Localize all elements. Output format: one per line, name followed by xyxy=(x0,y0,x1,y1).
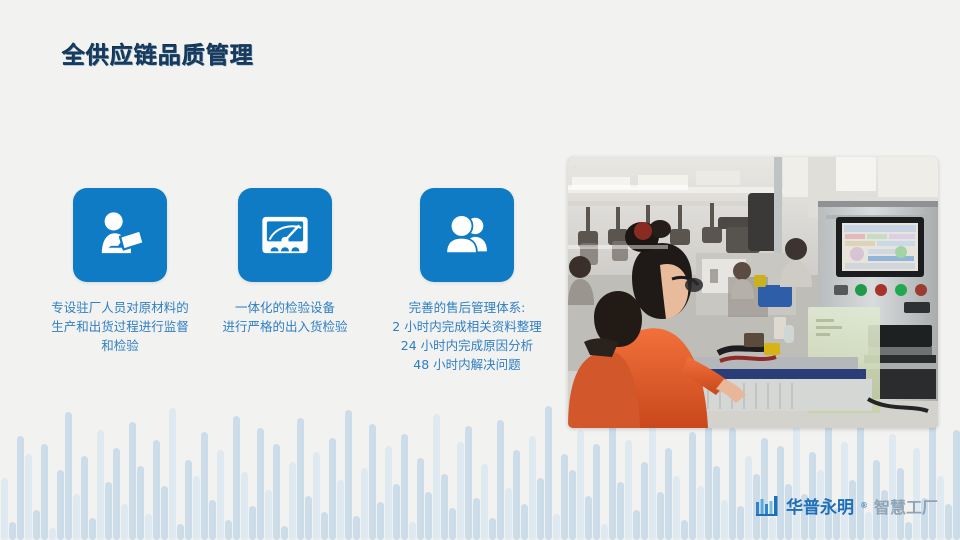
decorative-bar xyxy=(393,484,400,540)
decorative-bar xyxy=(241,472,248,540)
feature-caption: 一体化的检验设备 进行严格的出入货检验 xyxy=(205,298,365,336)
decorative-bar xyxy=(665,448,672,540)
decorative-bar xyxy=(689,432,696,540)
decorative-bar xyxy=(793,418,800,540)
page-title: 全供应链品质管理 xyxy=(62,36,254,70)
decorative-bar xyxy=(937,476,944,540)
decorative-bar xyxy=(649,422,656,540)
decorative-bar xyxy=(617,482,624,540)
decorative-bar xyxy=(1,478,8,540)
decorative-bar xyxy=(633,510,640,540)
decorative-bar xyxy=(73,494,80,540)
feature-item-inspection-equipment[interactable]: 一体化的检验设备 进行严格的出入货检验 xyxy=(205,188,365,336)
decorative-bar xyxy=(49,528,56,540)
decorative-bar xyxy=(473,498,480,540)
decorative-bar xyxy=(217,450,224,540)
two-users-icon xyxy=(438,206,496,264)
decorative-bar xyxy=(641,462,648,540)
decorative-bar xyxy=(345,410,352,540)
brand-logo: 华普永明 ® 智慧工厂 xyxy=(755,493,938,518)
decorative-bar xyxy=(41,444,48,540)
decorative-bar xyxy=(17,436,24,540)
logo-brand-text: 华普永明 xyxy=(786,493,854,518)
decorative-bar xyxy=(457,442,464,540)
decorative-bar xyxy=(577,430,584,540)
decorative-bar xyxy=(201,432,208,540)
logo-product-text: 智慧工厂 xyxy=(874,494,938,518)
decorative-bar xyxy=(697,486,704,540)
decorative-bar xyxy=(417,458,424,540)
decorative-bar xyxy=(761,438,768,540)
decorative-bar xyxy=(433,414,440,540)
decorative-bar xyxy=(857,410,864,540)
decorative-bar xyxy=(361,468,368,540)
decorative-bar xyxy=(769,516,776,540)
decorative-bar xyxy=(337,480,344,540)
decorative-bar xyxy=(929,420,936,540)
decorative-bar xyxy=(593,444,600,540)
decorative-bar xyxy=(305,496,312,540)
decorative-bar xyxy=(273,444,280,540)
decorative-bar xyxy=(145,514,152,540)
decorative-bar xyxy=(713,466,720,540)
decorative-bar xyxy=(209,500,216,540)
decorative-bar xyxy=(9,522,16,540)
icon-tile xyxy=(238,188,332,282)
decorative-bar xyxy=(321,512,328,540)
slide-canvas: 全供应链品质管理 专设驻厂人员对原材料的 生产和出货过程进行监督 和检验 xyxy=(0,0,960,540)
decorative-bar xyxy=(953,430,960,540)
decorative-bar xyxy=(289,462,296,540)
icon-tile xyxy=(73,188,167,282)
decorative-bar xyxy=(225,520,232,540)
feature-caption: 完善的售后管理体系: 2 小时内完成相关资料整理 24 小时内完成原因分析 48… xyxy=(372,298,562,374)
decorative-bar xyxy=(265,490,272,540)
decorative-bar xyxy=(121,504,128,540)
decorative-bar xyxy=(377,502,384,540)
decorative-bar xyxy=(497,420,504,540)
decorative-bar xyxy=(161,486,168,540)
decorative-bar xyxy=(569,470,576,540)
decorative-bar xyxy=(401,434,408,540)
decorative-bar xyxy=(505,488,512,540)
decorative-bar xyxy=(385,446,392,540)
decorative-bar xyxy=(737,506,744,540)
decorative-bar xyxy=(705,412,712,540)
decorative-bar xyxy=(537,478,544,540)
decorative-bar xyxy=(25,454,32,540)
decorative-bar xyxy=(193,476,200,540)
decorative-bar xyxy=(545,406,552,540)
decorative-bar xyxy=(601,524,608,540)
factory-production-line-photo xyxy=(568,157,938,428)
decorative-bar xyxy=(745,456,752,540)
decorative-bar xyxy=(825,424,832,540)
decorative-bar xyxy=(297,418,304,540)
feature-item-after-sales[interactable]: 完善的售后管理体系: 2 小时内完成相关资料整理 24 小时内完成原因分析 48… xyxy=(372,188,562,374)
decorative-bar xyxy=(729,428,736,540)
decorative-bar xyxy=(105,482,112,540)
decorative-bar xyxy=(449,508,456,540)
decorative-bar xyxy=(489,518,496,540)
icon-tile xyxy=(420,188,514,282)
decorative-bar xyxy=(657,492,664,540)
decorative-bar xyxy=(585,496,592,540)
decorative-bar xyxy=(281,526,288,540)
decorative-bar xyxy=(441,474,448,540)
decorative-bar xyxy=(681,520,688,540)
decorative-bar xyxy=(945,504,952,540)
decorative-bar xyxy=(177,524,184,540)
feature-item-inspection-staff[interactable]: 专设驻厂人员对原材料的 生产和出货过程进行监督 和检验 xyxy=(18,188,222,355)
decorative-bar xyxy=(33,510,40,540)
decorative-bar xyxy=(889,434,896,540)
decorative-bar xyxy=(113,448,120,540)
decorative-bar xyxy=(329,438,336,540)
decorative-bar xyxy=(625,440,632,540)
decorative-bar xyxy=(89,518,96,540)
decorative-bar xyxy=(409,522,416,540)
decorative-bar xyxy=(65,412,72,540)
decorative-bar xyxy=(313,452,320,540)
decorative-bar xyxy=(81,456,88,540)
decorative-bar xyxy=(481,464,488,540)
decorative-bar xyxy=(721,500,728,540)
decorative-bar xyxy=(425,492,432,540)
decorative-bar xyxy=(905,522,912,540)
decorative-bar xyxy=(529,436,536,540)
decorative-bar xyxy=(673,476,680,540)
decorative-bar xyxy=(233,416,240,540)
decorative-bar xyxy=(137,466,144,540)
decorative-bar xyxy=(97,430,104,540)
logo-registered-mark: ® xyxy=(860,501,868,510)
decorative-bar xyxy=(369,424,376,540)
decorative-bar xyxy=(185,460,192,540)
gauge-meter-icon xyxy=(256,206,314,264)
decorative-bar xyxy=(513,450,520,540)
decorative-bar xyxy=(169,408,176,540)
decorative-bar xyxy=(249,506,256,540)
decorative-bar xyxy=(609,416,616,540)
decorative-bar xyxy=(153,440,160,540)
feature-caption: 专设驻厂人员对原材料的 生产和出货过程进行监督 和检验 xyxy=(18,298,222,355)
decorative-bar xyxy=(353,516,360,540)
decorative-bar xyxy=(841,442,848,540)
decorative-bar xyxy=(561,454,568,540)
decorative-bar xyxy=(57,470,64,540)
factory-logo-mark xyxy=(755,495,780,516)
person-with-clipboard-icon xyxy=(91,206,149,264)
decorative-bar xyxy=(553,514,560,540)
decorative-bar xyxy=(257,428,264,540)
decorative-bar xyxy=(521,504,528,540)
decorative-bar xyxy=(129,422,136,540)
decorative-bar xyxy=(465,426,472,540)
